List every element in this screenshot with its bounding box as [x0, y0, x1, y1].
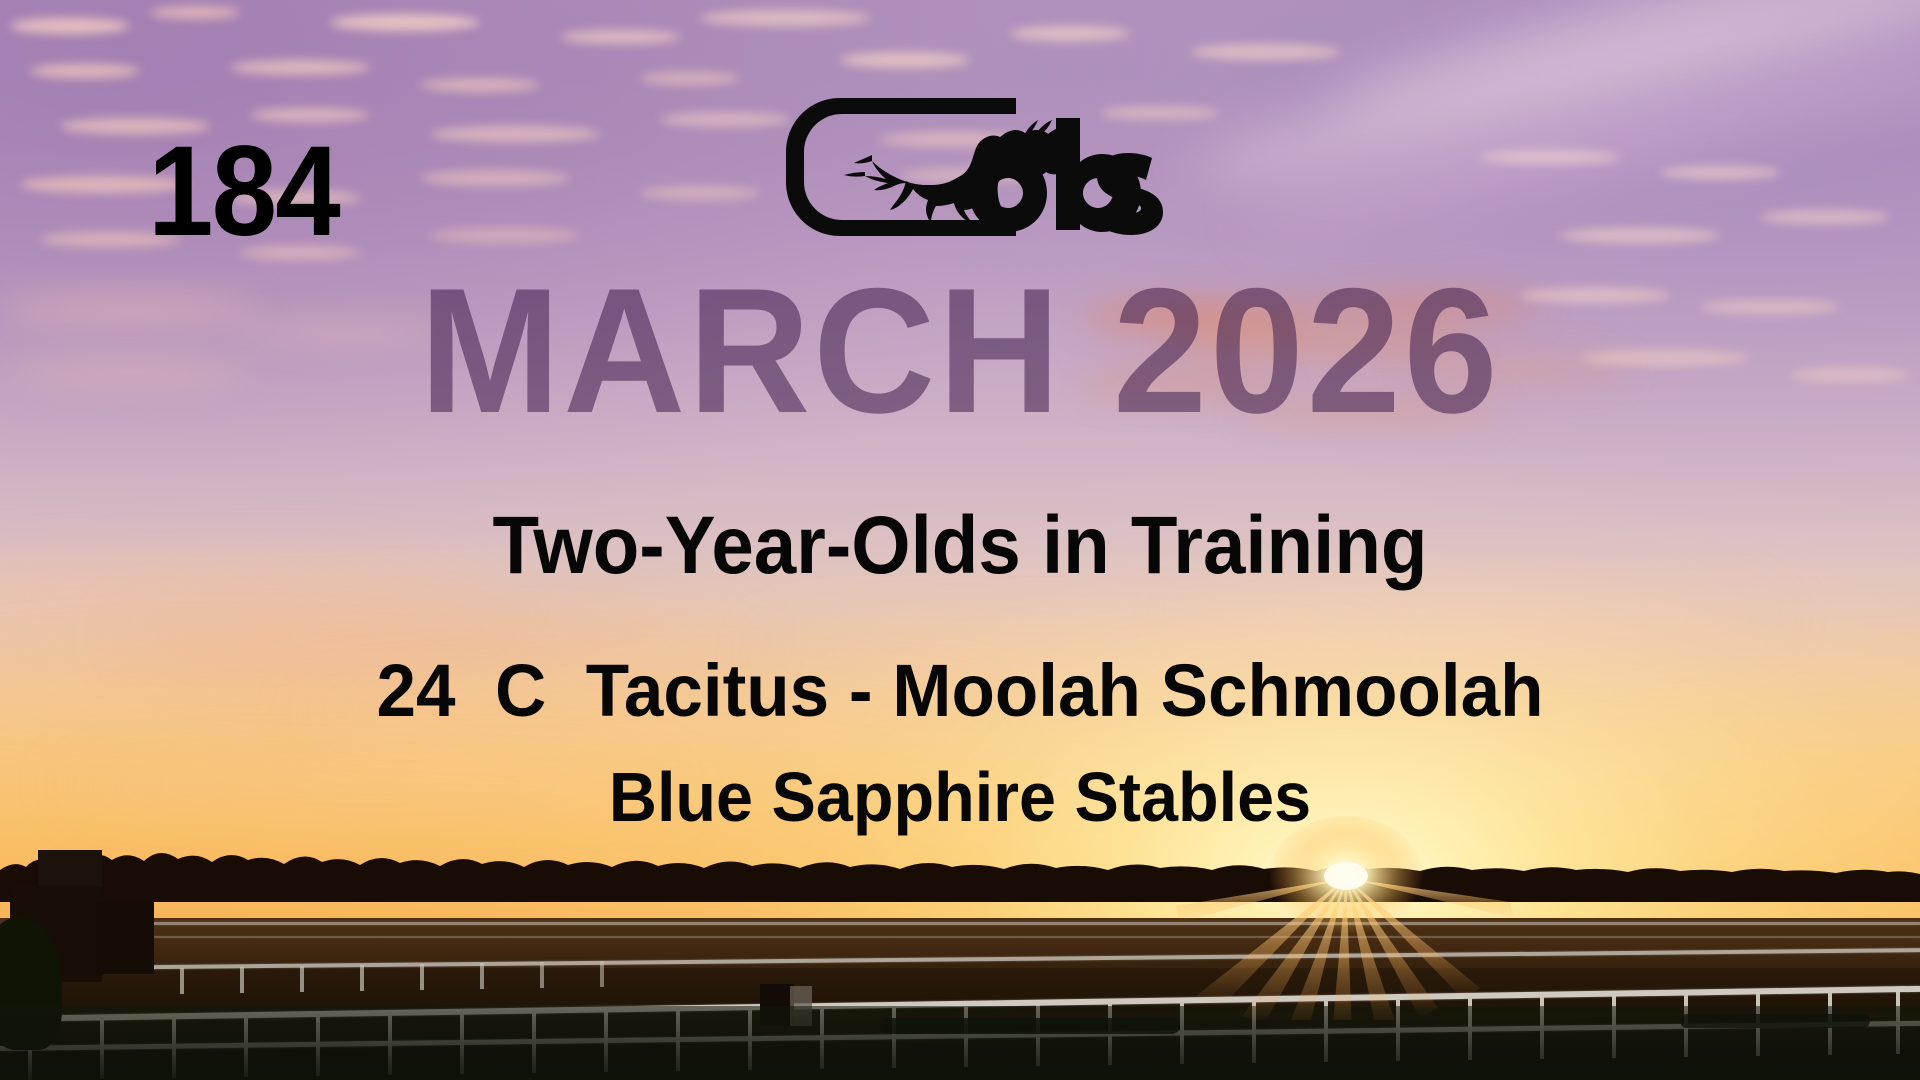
grandstand-extension	[96, 902, 154, 974]
rail-post	[420, 964, 424, 990]
sale-month-title: MARCH 2026	[48, 262, 1872, 440]
racetrack-scene	[0, 840, 1920, 1080]
sale-catalog-card: 184 MARCH 2026 T	[0, 0, 1920, 1080]
treeline-silhouette	[0, 840, 1920, 902]
rail-post	[360, 965, 364, 991]
hip-pedigree-line: 24 C Tacitus - Moolah Schmoolah	[38, 654, 1881, 728]
rail-post	[240, 967, 244, 993]
rail-post	[180, 968, 184, 994]
rail-post	[300, 966, 304, 992]
hip-number: 184	[148, 128, 339, 256]
rail-post	[600, 961, 604, 987]
rail-post	[480, 963, 484, 989]
sale-type-title: Two-Year-Olds in Training	[67, 505, 1853, 587]
far-rail	[140, 922, 1920, 925]
foreground-grass	[0, 1006, 1920, 1080]
consignor-name: Blue Sapphire Stables	[48, 762, 1872, 832]
obs-logo	[780, 92, 1170, 242]
rail-post	[540, 962, 544, 988]
far-rail-lower	[150, 936, 1920, 938]
obs-logo-mark	[780, 92, 1170, 242]
